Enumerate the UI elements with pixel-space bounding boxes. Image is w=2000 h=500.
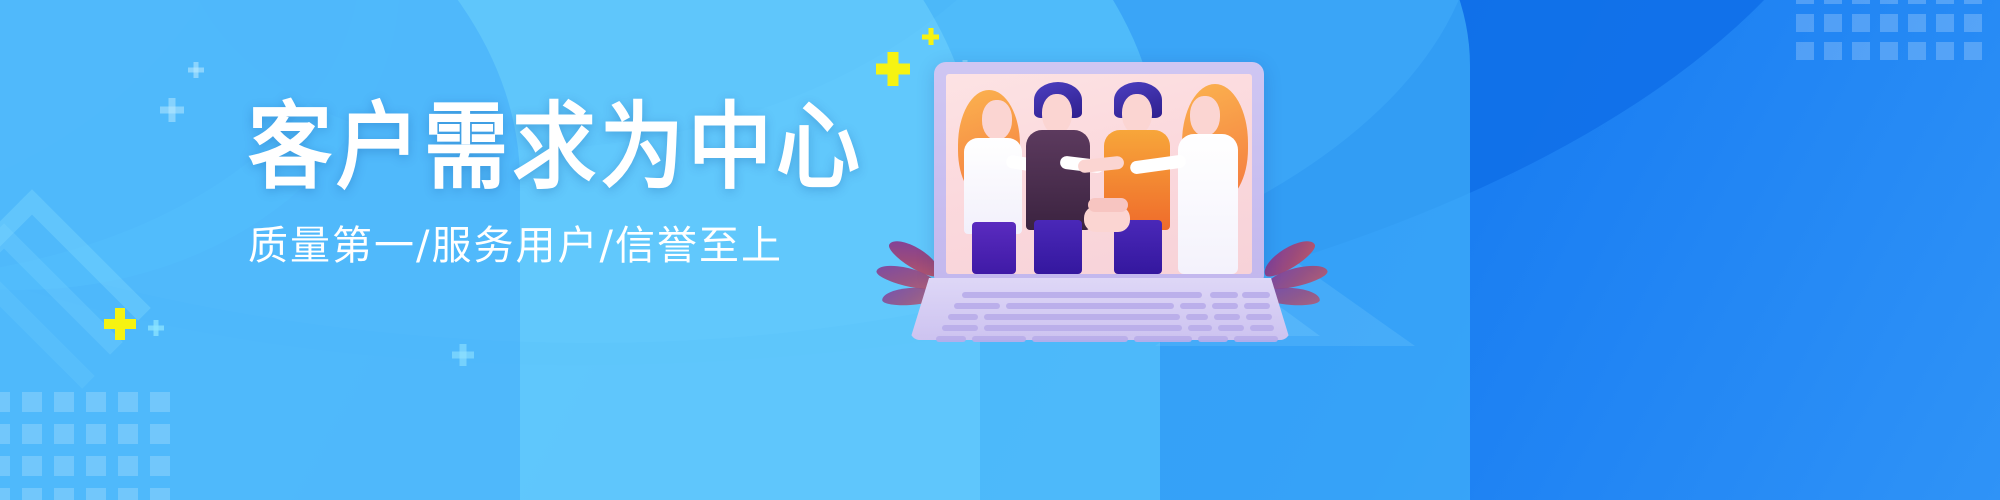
plus-icon-cyan-2 [160, 98, 184, 122]
garment-woman-left [964, 138, 1022, 234]
square-grid-top-right [1796, 0, 1982, 60]
plus-icon-cyan-bottom [148, 320, 164, 336]
trousers-woman-left [972, 222, 1016, 274]
person-man-left [1018, 78, 1100, 274]
garment-woman-right [1178, 134, 1238, 274]
square-grid-bottom-left [0, 392, 170, 500]
laptop-screen [946, 74, 1252, 274]
head-man-left [1042, 94, 1072, 134]
chevron-icon-3 [0, 257, 95, 495]
person-woman-right [1170, 78, 1252, 274]
laptop-keyboard [910, 290, 1290, 340]
head-woman-right [1190, 96, 1220, 136]
person-man-right [1096, 78, 1180, 274]
laptop-illustration [910, 62, 1290, 352]
headline: 客户需求为中心 [248, 100, 888, 194]
plus-icon-yellow-bottom [104, 308, 136, 340]
promo-banner: 客户需求为中心 质量第一/服务用户/信誉至上 [0, 0, 2000, 500]
wave-right-light [0, 0, 260, 220]
plus-icon-cyan-3 [452, 344, 474, 366]
garment-man-left [1026, 130, 1090, 230]
laptop-lid [934, 62, 1264, 280]
chevron-icon-2 [0, 223, 123, 461]
trousers-man-left [1034, 220, 1082, 274]
stacked-hands-top [1088, 198, 1128, 212]
banner-copy: 客户需求为中心 质量第一/服务用户/信誉至上 [248, 100, 888, 266]
subtitle: 质量第一/服务用户/信誉至上 [248, 226, 888, 266]
plus-icon-yellow-small [922, 28, 939, 45]
plus-icon-cyan-1 [188, 62, 204, 78]
plus-icon-yellow-large [876, 52, 910, 86]
head-man-right [1122, 94, 1152, 134]
head-woman-left [982, 100, 1012, 140]
chevron-icon-1 [0, 189, 151, 427]
